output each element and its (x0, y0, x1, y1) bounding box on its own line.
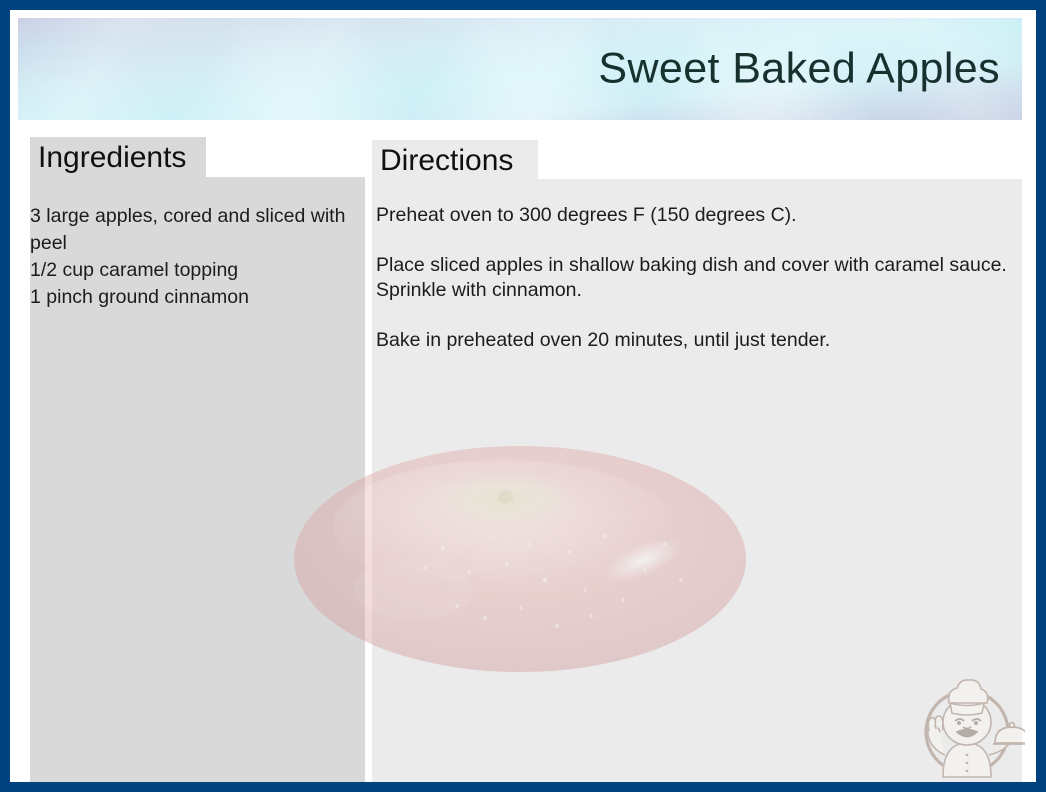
ingredients-list: 3 large apples, cored and sliced with pe… (30, 203, 352, 311)
directions-steps: Preheat oven to 300 degrees F (150 degre… (376, 203, 1008, 353)
list-item: 1/2 cup caramel topping (30, 257, 352, 284)
ingredients-heading-label: Ingredients (38, 143, 186, 173)
recipe-slide: Sweet Baked Apples Ingredients 3 large a… (0, 0, 1046, 792)
direction-step: Bake in preheated oven 20 minutes, until… (376, 328, 1008, 353)
title-banner: Sweet Baked Apples (18, 18, 1022, 120)
page-title: Sweet Baked Apples (598, 45, 1000, 94)
direction-step: Preheat oven to 300 degrees F (150 degre… (376, 203, 1008, 228)
directions-heading-tab: Directions (372, 140, 538, 182)
list-item: 1 pinch ground cinnamon (30, 284, 352, 311)
directions-heading-label: Directions (380, 146, 513, 176)
direction-step: Place sliced apples in shallow baking di… (376, 253, 1008, 303)
list-item: 3 large apples, cored and sliced with pe… (30, 203, 352, 257)
ingredients-heading-tab: Ingredients (30, 137, 206, 179)
